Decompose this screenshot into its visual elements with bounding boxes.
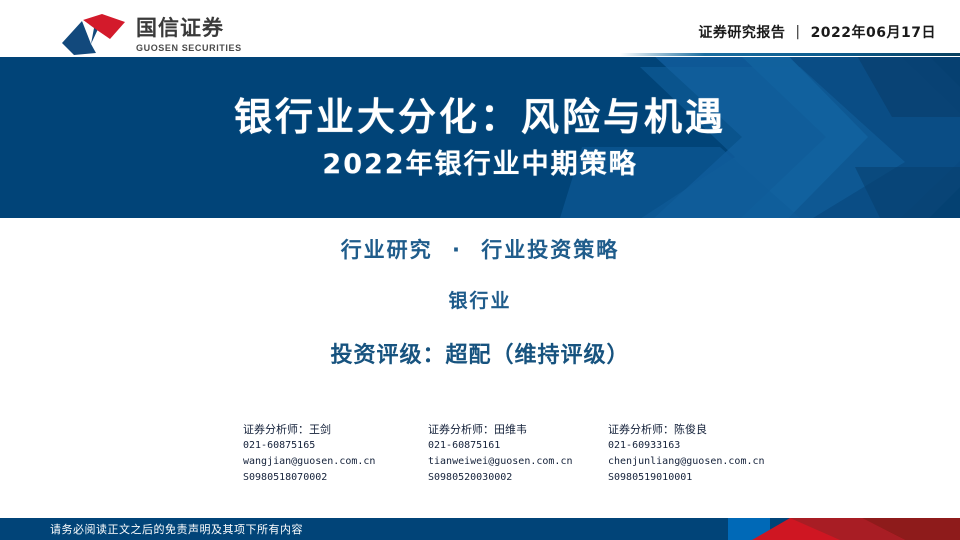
analyst-phone: 021-60875161 bbox=[428, 438, 573, 454]
analyst-card: 证券分析师：田维韦 021-60875161 tianweiwei@guosen… bbox=[428, 422, 573, 486]
report-meta-block: 行业研究 · 行业投资策略 银行业 投资评级：超配（维持评级） bbox=[0, 235, 960, 371]
company-logo: 国信证券 GUOSEN SECURITIES bbox=[58, 12, 242, 56]
analyst-card: 证券分析师：王剑 021-60875165 wangjian@guosen.co… bbox=[243, 422, 375, 486]
footer-disclaimer: 请务必阅读正文之后的免责声明及其项下所有内容 bbox=[50, 518, 303, 540]
page-subtitle: 2022年银行业中期策略 bbox=[322, 147, 637, 183]
page-footer: 请务必阅读正文之后的免责声明及其项下所有内容 bbox=[0, 518, 960, 540]
analyst-name: 证券分析师：田维韦 bbox=[428, 422, 573, 438]
report-cover-page: 国信证券 GUOSEN SECURITIES 证券研究报告 | 2022年06月… bbox=[0, 0, 960, 540]
guosen-logo-icon bbox=[58, 12, 130, 56]
analyst-name: 证券分析师：王剑 bbox=[243, 422, 375, 438]
analyst-email[interactable]: chenjunliang@guosen.com.cn bbox=[608, 454, 765, 470]
header-divider-line bbox=[620, 53, 960, 56]
analyst-license: S0980518070002 bbox=[243, 470, 375, 486]
analyst-license: S0980519010001 bbox=[608, 470, 765, 486]
report-date: 2022年06月17日 bbox=[811, 22, 936, 42]
logo-name-en: GUOSEN SECURITIES bbox=[136, 42, 242, 54]
logo-text-block: 国信证券 GUOSEN SECURITIES bbox=[136, 14, 242, 54]
report-type-label: 证券研究报告 bbox=[698, 22, 785, 42]
header-separator: | bbox=[795, 24, 800, 40]
research-type-label: 行业研究 bbox=[341, 238, 433, 262]
page-title: 银行业大分化：风险与机遇 bbox=[234, 93, 726, 141]
banner-title-block: 银行业大分化：风险与机遇 2022年银行业中期策略 bbox=[0, 57, 960, 218]
analyst-email[interactable]: wangjian@guosen.com.cn bbox=[243, 454, 375, 470]
middle-dot-separator: · bbox=[452, 238, 462, 262]
analyst-license: S0980520030002 bbox=[428, 470, 573, 486]
analyst-phone: 021-60875165 bbox=[243, 438, 375, 454]
page-header: 国信证券 GUOSEN SECURITIES 证券研究报告 | 2022年06月… bbox=[0, 0, 960, 57]
strategy-type-label: 行业投资策略 bbox=[481, 238, 619, 262]
analyst-card: 证券分析师：陈俊良 021-60933163 chenjunliang@guos… bbox=[608, 422, 765, 486]
analyst-name: 证券分析师：陈俊良 bbox=[608, 422, 765, 438]
title-banner: 银行业大分化：风险与机遇 2022年银行业中期策略 bbox=[0, 57, 960, 218]
analyst-phone: 021-60933163 bbox=[608, 438, 765, 454]
logo-name-cn: 国信证券 bbox=[136, 16, 242, 40]
industry-label: 银行业 bbox=[448, 287, 511, 315]
header-meta: 证券研究报告 | 2022年06月17日 bbox=[698, 22, 936, 42]
research-category-line: 行业研究 · 行业投资策略 bbox=[341, 235, 620, 265]
analyst-email[interactable]: tianweiwei@guosen.com.cn bbox=[428, 454, 573, 470]
investment-rating: 投资评级：超配（维持评级） bbox=[330, 341, 629, 371]
